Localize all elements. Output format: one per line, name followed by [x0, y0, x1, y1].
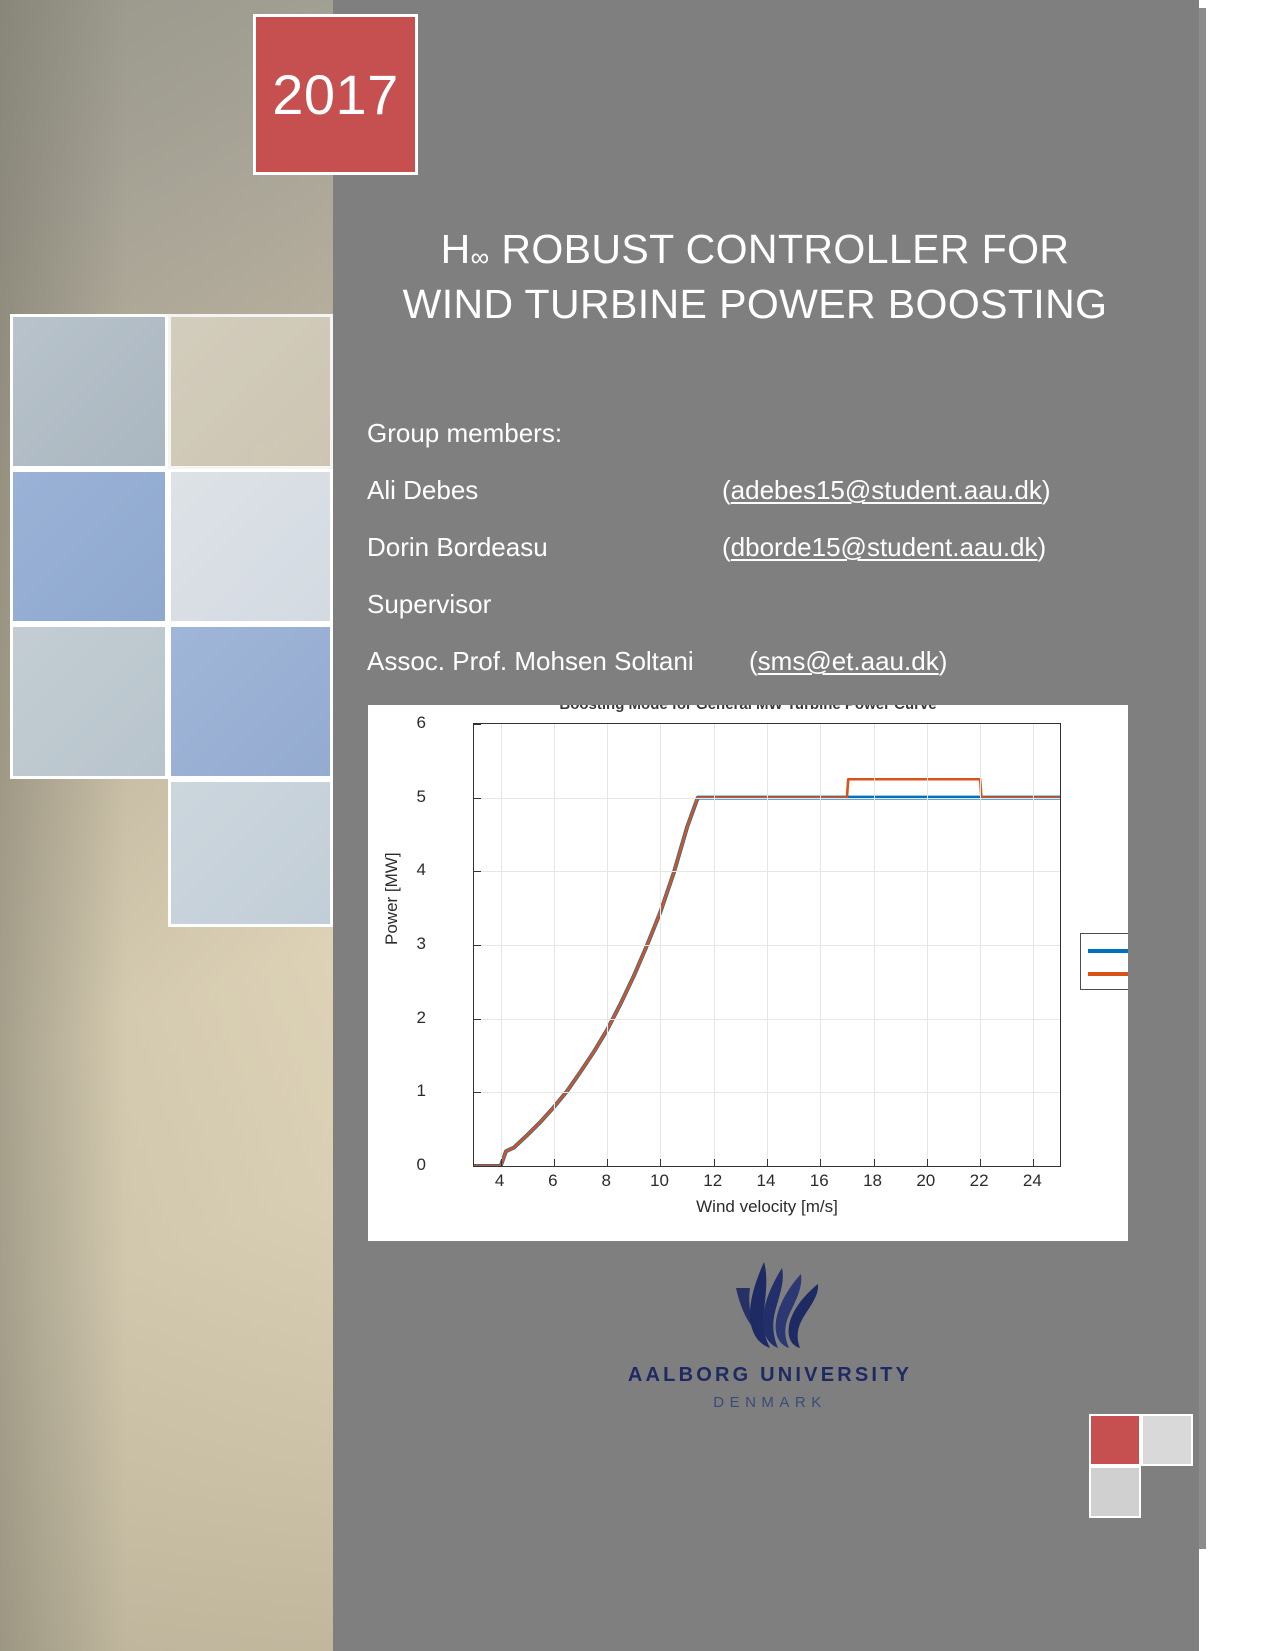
chart-tick-x — [1033, 1159, 1034, 1166]
chart-tick-y — [474, 798, 481, 799]
group-members-heading: Group members: — [367, 420, 1127, 446]
member-email-wrap: (dborde15@student.aau.dk) — [722, 534, 1046, 560]
decorative-square — [10, 314, 168, 469]
chart-gridline-horizontal — [474, 945, 1060, 946]
chart-tick-x — [927, 1159, 928, 1166]
power-curve-figure: Boosting Mode for General MW Turbine Pow… — [368, 705, 1128, 1241]
chart-xtick-label: 8 — [586, 1171, 626, 1191]
chart-ytick-label: 1 — [368, 1081, 426, 1101]
paren-open: ( — [722, 532, 731, 562]
logo-university-name: AALBORG UNIVERSITY — [590, 1364, 950, 1387]
chart-tick-x — [820, 1159, 821, 1166]
chart-xtick-label: 18 — [853, 1171, 893, 1191]
chart-xtick-label: 22 — [959, 1171, 999, 1191]
chart-tick-y — [474, 1092, 481, 1093]
chart-xtick-label: 10 — [639, 1171, 679, 1191]
member-row: Ali Debes (adebes15@student.aau.dk) — [367, 477, 1127, 503]
chart-gridline-horizontal — [474, 1019, 1060, 1020]
chart-ytick-label: 3 — [368, 934, 426, 954]
chart-title: Boosting Mode for General MW Turbine Pow… — [368, 705, 1128, 713]
chart-tick-x — [607, 1159, 608, 1166]
right-vertical-rule — [1199, 8, 1206, 1549]
decorative-square — [168, 779, 333, 927]
right-gutter — [1199, 0, 1275, 1651]
chart-tick-x — [660, 1159, 661, 1166]
chart-gridline-horizontal — [474, 798, 1060, 799]
legend-row: Boosted Power Curve — [1088, 962, 1128, 985]
title-line-1-rest: ROBUST CONTROLLER FOR — [490, 226, 1070, 272]
chart-tick-x — [980, 1159, 981, 1166]
footer-square-grey — [1089, 1466, 1141, 1518]
chart-tick-y — [474, 945, 481, 946]
paren-close: ) — [1038, 532, 1047, 562]
supervisor-heading: Supervisor — [367, 591, 1127, 617]
chart-tick-x — [874, 1159, 875, 1166]
footer-square-grey — [1141, 1414, 1193, 1466]
chart-gridline-horizontal — [474, 1092, 1060, 1093]
decorative-square — [168, 469, 333, 624]
decorative-square — [168, 624, 333, 779]
people-block: Group members: Ali Debes (adebes15@stude… — [367, 420, 1127, 705]
chart-xtick-label: 24 — [1012, 1171, 1052, 1191]
chart-tick-x — [767, 1159, 768, 1166]
supervisor-row: Assoc. Prof. Mohsen Soltani (sms@et.aau.… — [367, 648, 1127, 674]
chart-tick-x — [714, 1159, 715, 1166]
year-badge: 2017 — [253, 14, 418, 175]
year-label: 2017 — [272, 67, 399, 123]
chart-plot-area — [473, 723, 1061, 1167]
logo-country: DENMARK — [590, 1394, 950, 1411]
paren-open: ( — [749, 646, 758, 676]
member-email-link[interactable]: dborde15@student.aau.dk — [731, 532, 1038, 562]
supervisor-name: Assoc. Prof. Mohsen Soltani — [367, 648, 749, 674]
chart-xtick-label: 6 — [533, 1171, 573, 1191]
decorative-square — [10, 624, 168, 779]
member-email-link[interactable]: adebes15@student.aau.dk — [731, 475, 1042, 505]
infinity-icon: ∞ — [471, 242, 490, 272]
footer-square-red — [1089, 1414, 1141, 1466]
legend-row: Base Line Power Curve — [1088, 939, 1128, 962]
university-logo: AALBORG UNIVERSITY DENMARK — [590, 1258, 950, 1411]
chart-ytick-label: 4 — [368, 860, 426, 880]
chart-tick-y — [474, 724, 481, 725]
chart-xtick-label: 4 — [480, 1171, 520, 1191]
title-line-2: WIND TURBINE POWER BOOSTING — [360, 277, 1150, 332]
legend-swatch — [1088, 972, 1128, 976]
title-line-1: H∞ ROBUST CONTROLLER FOR — [360, 222, 1150, 277]
decorative-square — [168, 314, 333, 469]
chart-x-axis-label: Wind velocity [m/s] — [473, 1197, 1061, 1217]
chart-gridline-horizontal — [474, 871, 1060, 872]
chart-ytick-label: 5 — [368, 787, 426, 807]
legend-swatch — [1088, 949, 1128, 953]
chart-xtick-label: 16 — [799, 1171, 839, 1191]
aau-flame-icon — [706, 1258, 834, 1350]
cover-page: 2017 H∞ ROBUST CONTROLLER FOR WIND TURBI… — [0, 0, 1275, 1651]
chart-xtick-label: 12 — [693, 1171, 733, 1191]
member-row: Dorin Bordeasu (dborde15@student.aau.dk) — [367, 534, 1127, 560]
chart-tick-y — [474, 1019, 481, 1020]
member-name: Dorin Bordeasu — [367, 534, 722, 560]
decorative-square — [10, 469, 168, 624]
paren-close: ) — [939, 646, 948, 676]
document-title: H∞ ROBUST CONTROLLER FOR WIND TURBINE PO… — [360, 222, 1150, 331]
chart-ytick-label: 2 — [368, 1008, 426, 1028]
title-h-symbol: H — [441, 226, 471, 272]
supervisor-email-link[interactable]: sms@et.aau.dk — [758, 646, 939, 676]
chart-ytick-label: 0 — [368, 1155, 426, 1175]
chart-tick-y — [474, 1166, 481, 1167]
chart-xtick-label: 20 — [906, 1171, 946, 1191]
paren-open: ( — [722, 475, 731, 505]
grey-top-band — [418, 0, 1199, 176]
member-name: Ali Debes — [367, 477, 722, 503]
chart-xtick-label: 14 — [746, 1171, 786, 1191]
chart-tick-y — [474, 871, 481, 872]
supervisor-email-wrap: (sms@et.aau.dk) — [749, 648, 947, 674]
chart-ytick-label: 6 — [368, 713, 426, 733]
chart-legend: Base Line Power Curve Boosted Power Curv… — [1080, 933, 1128, 990]
paren-close: ) — [1042, 475, 1051, 505]
chart-tick-x — [501, 1159, 502, 1166]
chart-tick-x — [554, 1159, 555, 1166]
member-email-wrap: (adebes15@student.aau.dk) — [722, 477, 1051, 503]
